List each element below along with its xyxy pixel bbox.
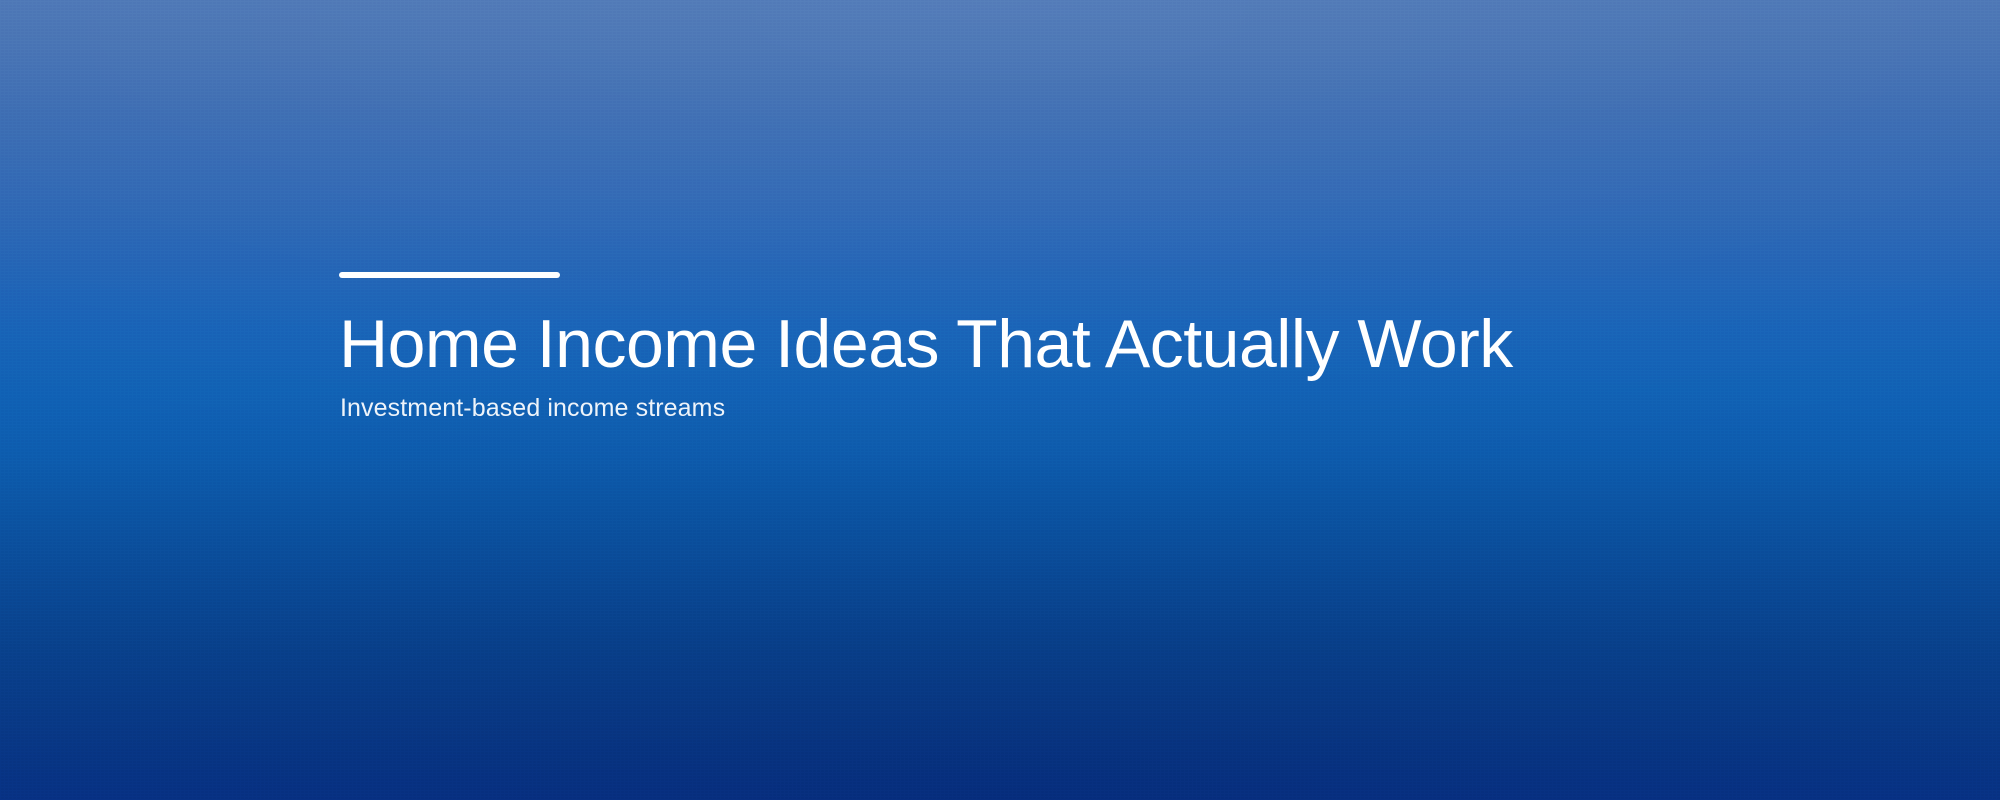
page-subtitle: Investment-based income streams bbox=[340, 393, 1739, 424]
title-slide: Home Income Ideas That Actually Work Inv… bbox=[0, 0, 2000, 800]
page-title: Home Income Ideas That Actually Work bbox=[339, 308, 1739, 380]
title-block: Home Income Ideas That Actually Work Inv… bbox=[339, 262, 1739, 424]
accent-rule bbox=[339, 272, 560, 278]
